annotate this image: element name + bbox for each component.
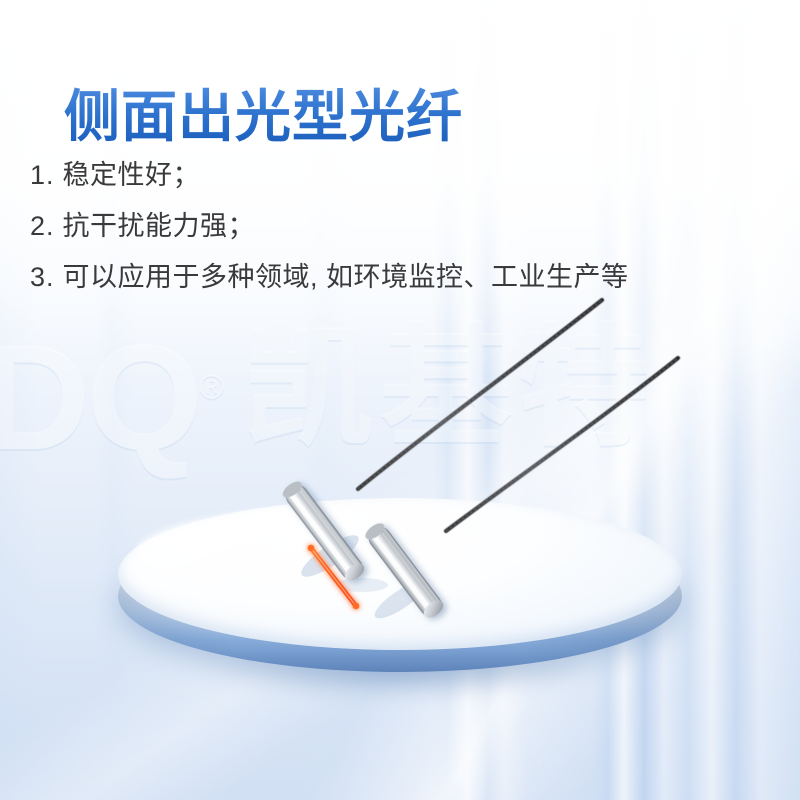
fiber-optic-sensor-product (0, 0, 800, 800)
product-poster: DQ® 凯基特 侧面出光型光纤 1. 稳定性好； 2. 抗干扰能力强； 3. 可… (0, 0, 800, 800)
fiber-cables (358, 300, 678, 531)
